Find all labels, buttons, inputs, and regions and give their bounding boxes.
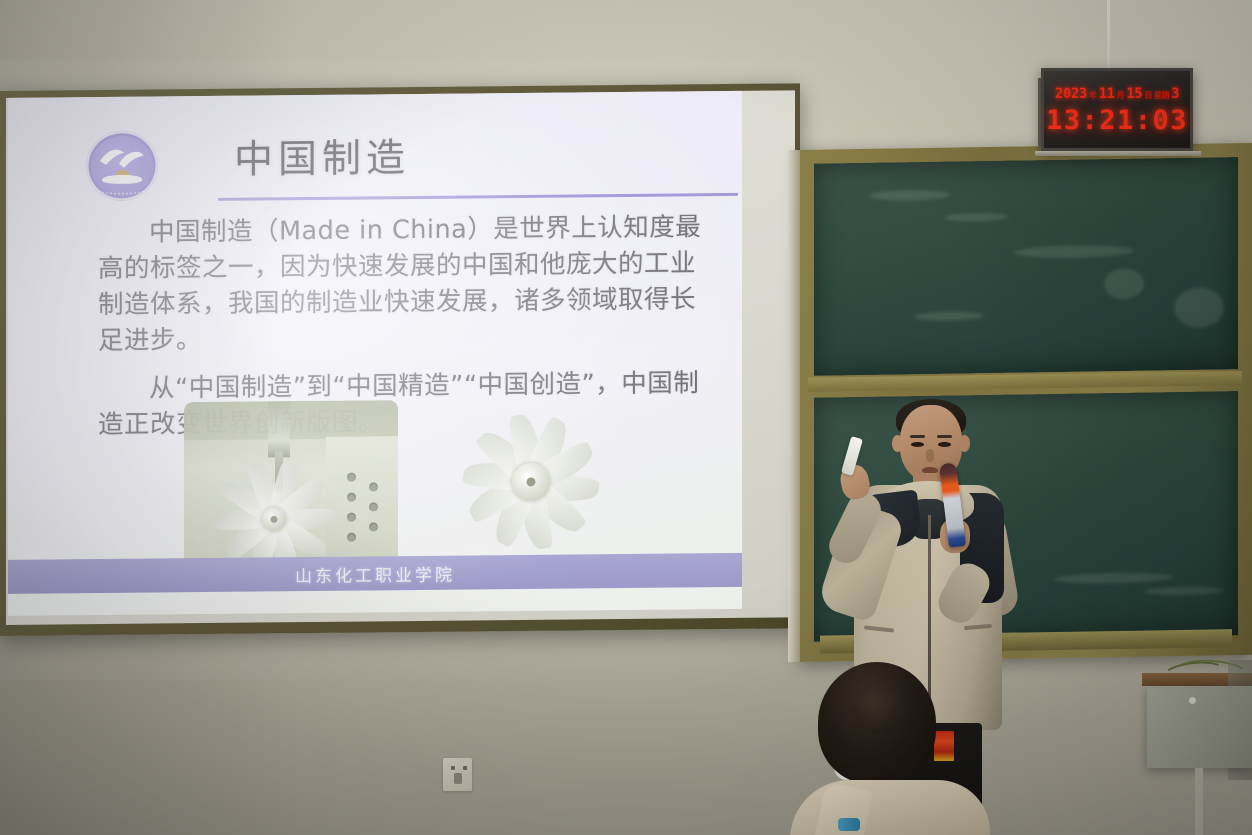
impeller-hub-center [527,477,536,486]
slide-title: 中国制造 [234,127,410,185]
college-emblem-icon [86,130,158,201]
plate-hole [347,493,356,502]
equipment-cabinet[interactable] [1147,686,1252,768]
presenter-eye-left [911,442,924,447]
machine-body [184,400,398,440]
student-hair-bun [852,684,906,734]
blackboard-upper-panel [814,157,1238,376]
presenter-nose [926,449,934,462]
presenter-eyebrow-left [910,435,925,438]
plate-hole [369,502,378,511]
slide-paragraph-1: 中国制造（Made in China）是世界上认知度最高的标签之一，因为快速发展… [98,209,713,359]
wave-shape [102,175,142,184]
plate-hole [347,473,356,482]
presenter-ear-left [892,435,903,452]
clock-month: 11 [1099,86,1115,102]
cabinet-leg [1195,768,1203,835]
finished-impeller-photo [446,398,616,565]
impeller-hub-center [270,516,277,523]
clock-day-unit: 日 [1144,90,1152,101]
classroom-scene: 中国制造 中国制造（Made in China）是世界上认知度最高的标签之一，因… [0,0,1252,835]
blackboard-left-edge [788,150,800,662]
clock-month-unit: 月 [1117,90,1125,101]
presenter-eye-right [938,442,951,447]
clock-day: 15 [1126,86,1142,102]
clock-time: 13:21:03 [1046,105,1188,136]
clock-year-unit: 年 [1089,90,1097,101]
projection-screen: 中国制造 中国制造（Made in China）是世界上认知度最高的标签之一，因… [0,83,800,636]
presenter-ear-right [959,435,970,452]
presenter-eyebrow-right [937,435,952,438]
outlet-slot [463,766,467,770]
student-seated-back-view [790,662,1005,835]
title-underline [218,193,738,201]
slide-footer-band: 山东化工职业学院 [8,553,742,594]
student-clip [838,818,860,831]
plate-hole [347,533,356,542]
plate-hole [347,513,356,522]
outlet-slot [451,766,455,770]
clock-weekday: 3 [1171,86,1179,102]
plate-hole [369,522,378,531]
cabinet-lock-icon[interactable] [1189,697,1196,704]
machine-spindle [268,401,290,457]
projected-slide: 中国制造 中国制造（Made in China）是世界上认知度最高的标签之一，因… [8,91,742,616]
clock-shelf [1035,151,1201,156]
clock-weekday-label: 星期 [1154,90,1169,101]
plate-hole [369,482,378,491]
outlet-plug-slot [454,773,462,784]
led-wall-clock: 2023 年 11 月 15 日 星期 3 13:21:03 [1041,68,1193,151]
clock-year: 2023 [1055,86,1087,102]
slide-footer-text: 山东化工职业学院 [295,560,455,587]
clock-power-cable [1107,0,1110,72]
clock-date-row: 2023 年 11 月 15 日 星期 3 [1055,86,1179,102]
